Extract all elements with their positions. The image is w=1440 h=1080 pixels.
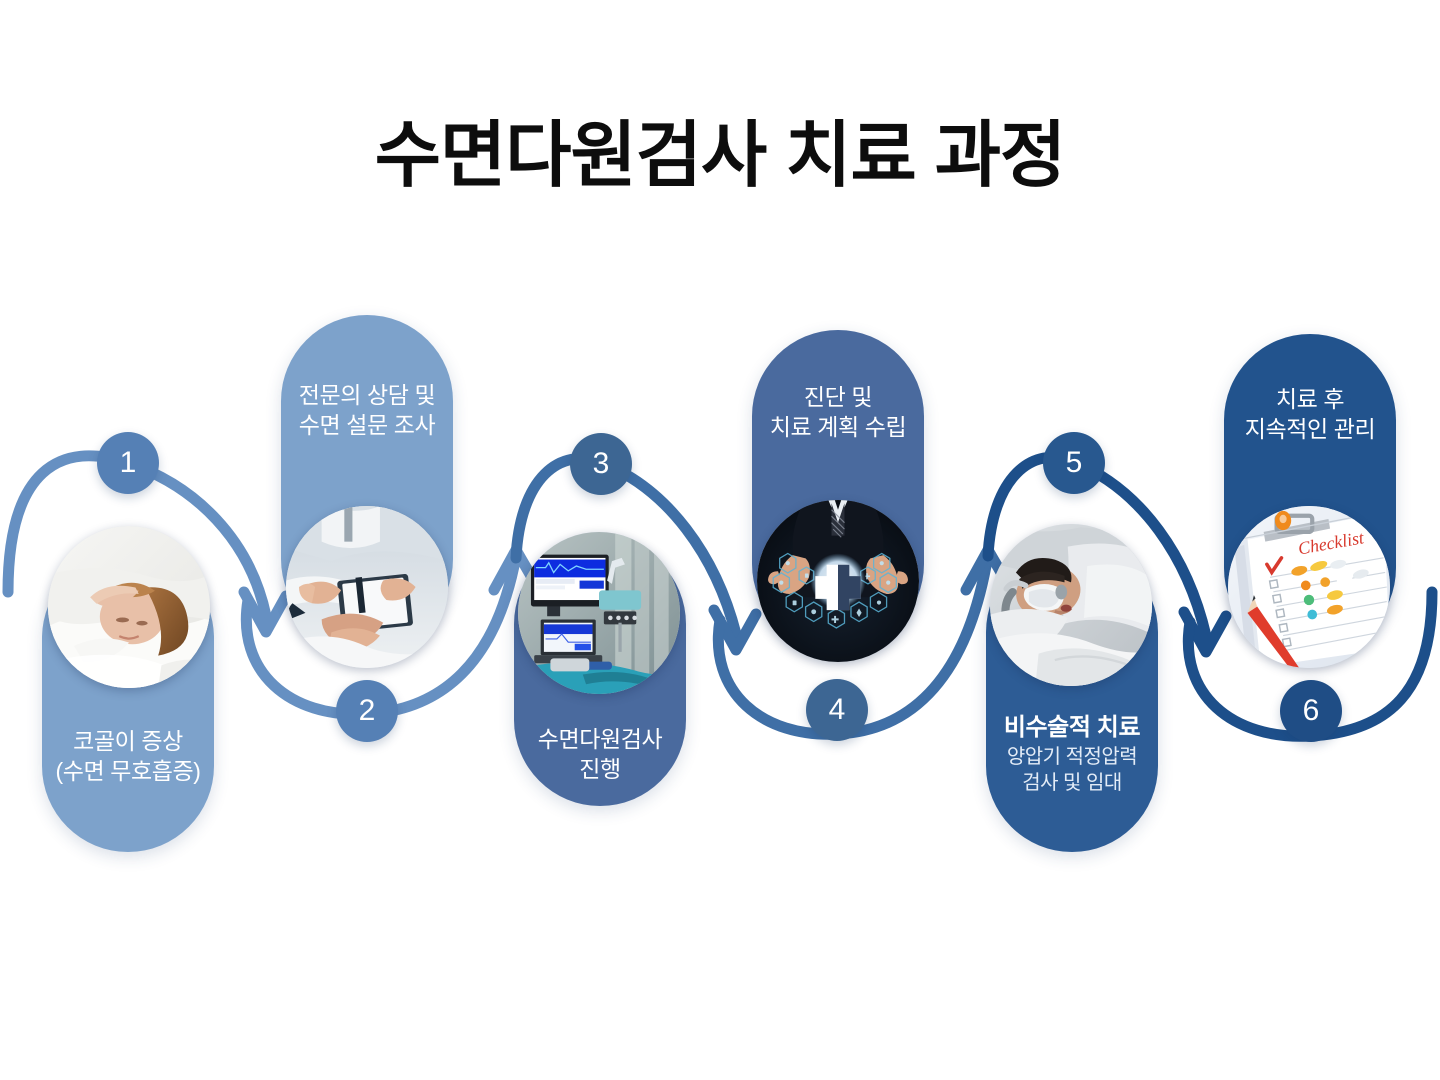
step-1-number-badge[interactable]: 1 [97,432,159,494]
cpap-mask-sleeping-man-photo-art [990,524,1152,686]
step-1-text: 코골이 증상 (수면 무호흡증) [42,726,214,787]
checklist-pills-photo-art: Checklist [1228,506,1390,668]
step-2-number: 2 [359,694,376,728]
step-1-line-2: (수면 무호흡증) [42,756,214,786]
woman-sleeping-photo-art [48,526,210,688]
step-4-number-badge[interactable]: 4 [806,679,868,741]
step-6-text: 치료 후 지속적인 관리 [1224,384,1396,445]
step-6-photo: Checklist [1228,506,1390,668]
step-4-text: 진단 및 치료 계획 수립 [752,382,924,443]
step-6-number: 6 [1303,694,1320,728]
step-2-line-1: 전문의 상담 및 [281,380,453,410]
step-3-number: 3 [593,447,610,481]
step-5-photo [990,524,1152,686]
step-6-line-2: 지속적인 관리 [1224,414,1396,444]
step-4-photo [757,500,919,662]
step-1-line-1: 코골이 증상 [42,726,214,756]
doctor-medical-icons-hologram-photo-art [757,500,919,662]
step-4-line-1: 진단 및 [752,382,924,412]
step-2-number-badge[interactable]: 2 [336,680,398,742]
step-5-text: 비수술적 치료 양압기 적정압력 검사 및 임대 [986,712,1158,796]
step-4-line-2: 치료 계획 수립 [752,412,924,442]
step-3-number-badge[interactable]: 3 [570,433,632,495]
step-5-line-1: 비수술적 치료 [986,712,1158,744]
step-3-line-1: 수면다원검사 [514,724,686,754]
step-6-number-badge[interactable]: 6 [1280,680,1342,742]
step-1-photo [48,526,210,688]
infographic-canvas: 수면다원검사 치료 과정 [0,0,1440,1080]
step-5-subtitle-2: 검사 및 임대 [986,770,1158,796]
step-4-number: 4 [829,693,846,727]
page-title: 수면다원검사 치료 과정 [0,96,1440,201]
step-5-number: 5 [1066,446,1083,480]
step-6-line-1: 치료 후 [1224,384,1396,414]
polysomnography-monitors-photo-art [518,532,680,694]
step-2-line-2: 수면 설문 조사 [281,410,453,440]
step-2-photo [286,506,448,668]
step-3-photo [518,532,680,694]
step-1-number: 1 [120,446,137,480]
step-5-number-badge[interactable]: 5 [1043,432,1105,494]
step-3-line-2: 진행 [514,754,686,784]
doctor-consultation-clipboard-photo-art [286,506,448,668]
step-5-subtitle-1: 양압기 적정압력 [986,744,1158,770]
step-3-text: 수면다원검사 진행 [514,724,686,785]
step-2-text: 전문의 상담 및 수면 설문 조사 [281,380,453,441]
